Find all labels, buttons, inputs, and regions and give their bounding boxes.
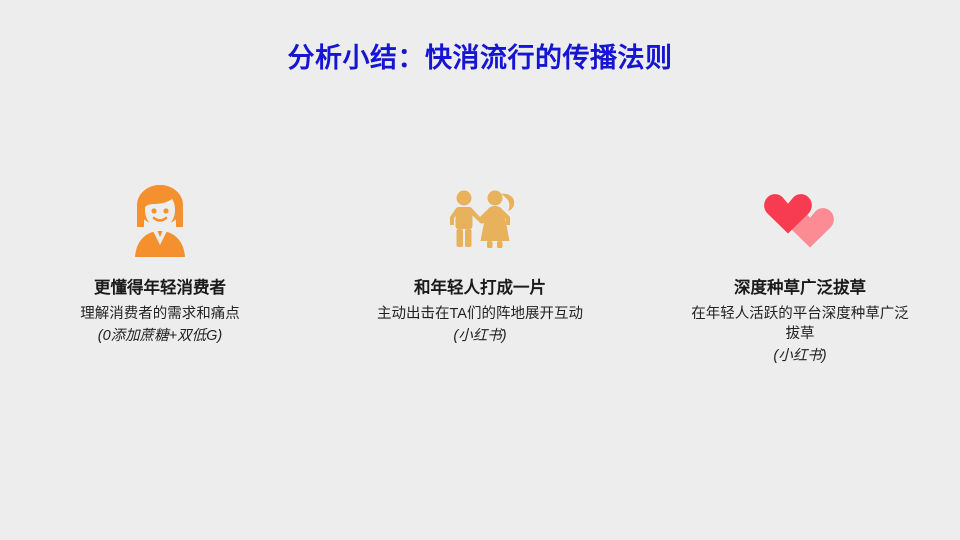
column-heading: 更懂得年轻消费者 [94, 278, 226, 299]
slide-canvas: 分析小结：快消流行的传播法则 [0, 0, 960, 540]
column-note: (小红书) [453, 326, 506, 346]
column-description: 在年轻人活跃的平台深度种草广泛拔草 [689, 304, 911, 345]
column-heading: 和年轻人打成一片 [414, 278, 546, 299]
column-heading: 深度种草广泛拔草 [734, 278, 866, 299]
boy-and-girl-holding-hands-icon [442, 178, 518, 264]
content-columns: 更懂得年轻消费者 理解消费者的需求和痛点 (0添加蔗糖+双低G) [0, 178, 960, 367]
woman-person-icon [128, 178, 192, 264]
page-title: 分析小结：快消流行的传播法则 [0, 42, 960, 74]
column-description: 主动出击在TA们的阵地展开互动 [369, 304, 591, 324]
column-note: (小红书) [773, 346, 826, 366]
content-column-1: 更懂得年轻消费者 理解消费者的需求和痛点 (0添加蔗糖+双低G) [0, 178, 320, 346]
column-description: 理解消费者的需求和痛点 [49, 304, 271, 324]
two-hearts-icon [754, 178, 846, 264]
content-column-2: 和年轻人打成一片 主动出击在TA们的阵地展开互动 (小红书) [320, 178, 640, 346]
content-column-3: 深度种草广泛拔草 在年轻人活跃的平台深度种草广泛拔草 (小红书) [640, 178, 960, 367]
column-note: (0添加蔗糖+双低G) [98, 326, 222, 346]
